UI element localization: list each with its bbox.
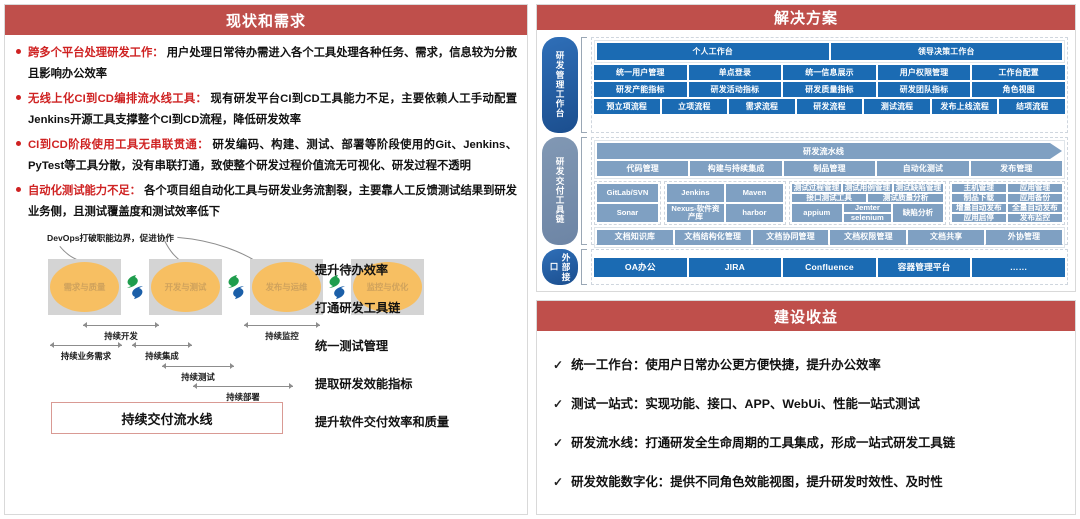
list-item: ✓ 测试一站式：实现功能、接口、APP、WebUi、性能一站式测试 xyxy=(553,394,1059,412)
list-item[interactable]: 文档协同管理 xyxy=(753,230,829,245)
list-item[interactable]: 立项流程 xyxy=(662,99,728,114)
check-icon: ✓ xyxy=(553,358,563,372)
devops-stage: 需求与质量 xyxy=(48,259,121,315)
current-state-title: 现状和需求 xyxy=(5,5,527,35)
bullet-lead: 跨多个平台处理研发工作： xyxy=(28,47,164,59)
tool-group-code: GitLab/SVN Sonar xyxy=(594,181,661,225)
benefit-text: 测试一站式：实现功能、接口、APP、WebUi、性能一站式测试 xyxy=(571,394,920,412)
benefits-list: ✓ 统一工作台：使用户日常办公更方便快捷，提升办公效率 ✓ 测试一站式：实现功能… xyxy=(537,331,1075,514)
workbench-top-wrap: 个人工作台 领导决策工作台 xyxy=(594,40,1065,63)
benefit-text: 统一工作台：使用户日常办公更方便快捷，提升办公效率 xyxy=(571,355,881,373)
list-item[interactable]: 应用备份 xyxy=(1008,194,1062,202)
list-item[interactable]: 增量自动发布 xyxy=(952,204,1006,212)
bracket-column xyxy=(581,35,588,285)
continuous-delivery-pipeline-box: 持续交付流水线 xyxy=(51,402,283,434)
list-item[interactable]: 研发流程 xyxy=(797,99,863,114)
solution-architecture-diagram: 研发管理工作台 研发交付工具链 外部接口 个人工作台 xyxy=(537,30,1075,291)
list-item[interactable]: 测试用例管理 xyxy=(843,184,892,192)
devops-span-label: 持续开发 xyxy=(83,330,159,342)
list-item[interactable]: Maven xyxy=(726,184,783,202)
list-item[interactable]: 研发活动指标 xyxy=(689,82,782,97)
outcome-item: 提升软件交付效率和质量 xyxy=(315,402,449,440)
table-row: 统一用户管理 单点登录 统一信息展示 用户权限管理 工作台配置 xyxy=(594,65,1065,80)
devops-span: 持续集成 xyxy=(132,342,192,362)
table-row: 代码管理 构建与持续集成 制品管理 自动化测试 发布管理 xyxy=(597,161,1062,176)
devops-span: 持续部署 xyxy=(193,383,293,403)
list-item[interactable]: 统一信息展示 xyxy=(783,65,876,80)
list-item[interactable]: 发布上线流程 xyxy=(932,99,998,114)
list-item[interactable]: …… xyxy=(972,258,1065,277)
devops-span-label: 持续监控 xyxy=(244,330,320,342)
tool-group-release: 主机管理 应用管理 制品下载 应用备份 增量自动发布 全量自动发布 xyxy=(949,181,1065,225)
benefit-body: 提供不同角色效能视图，提升研发时效性、及时性 xyxy=(670,475,943,489)
outcome-item: 打通研发工具链 xyxy=(315,288,449,326)
docs-row-wrap: 文档知识库 文档结构化管理 文档协同管理 文档权限管理 文档共享 外协管理 xyxy=(594,227,1065,248)
list-item[interactable]: 单点登录 xyxy=(689,65,782,80)
list-item[interactable]: 缺陷分析 xyxy=(893,204,943,222)
benefit-body: 打通研发全生命周期的工具集成，形成一站式研发工具链 xyxy=(645,436,955,450)
right-column: 解决方案 研发管理工作台 研发交付工具链 外部接口 xyxy=(536,4,1076,515)
pipeline-wrap: 研发流水线 代码管理 构建与持续集成 制品管理 自动化测试 发布管理 xyxy=(594,140,1065,179)
list-item[interactable]: Sonar xyxy=(597,204,658,222)
devops-span: 持续测试 xyxy=(162,363,234,383)
devops-sync-icon xyxy=(121,259,149,315)
list-item[interactable]: 外协管理 xyxy=(986,230,1062,245)
list-item: CI到CD阶段使用工具无串联贯通： 研发编码、构建、测试、部署等阶段使用的Git… xyxy=(15,135,517,176)
list-item[interactable]: 用户权限管理 xyxy=(878,65,971,80)
list-item[interactable]: 预立项流程 xyxy=(594,99,660,114)
list-item[interactable]: 测试质量分析 xyxy=(868,194,942,202)
benefit-text: 研发效能数字化：提供不同角色效能视图，提升研发时效性、及时性 xyxy=(571,472,943,490)
list-item[interactable]: 文档权限管理 xyxy=(830,230,906,245)
benefit-lead: 研发效能数字化： xyxy=(571,475,670,489)
list-item[interactable]: 工作台配置 xyxy=(972,65,1065,80)
devops-span: 持续监控 xyxy=(244,322,320,342)
table-row: 文档知识库 文档结构化管理 文档协同管理 文档权限管理 文档共享 外协管理 xyxy=(597,230,1062,245)
current-state-body: 跨多个平台处理研发工作： 用户处理日常待办需进入各个工具处理各种任务、需求，信息… xyxy=(5,35,527,514)
list-item[interactable]: 统一用户管理 xyxy=(594,65,687,80)
list-item[interactable]: 构建与持续集成 xyxy=(690,161,781,176)
devops-span-label: 持续集成 xyxy=(132,350,192,362)
solution-title: 解决方案 xyxy=(537,5,1075,30)
bracket xyxy=(581,249,587,285)
list-item[interactable]: 研发产能指标 xyxy=(594,82,687,97)
devops-span: 持续业务需求 xyxy=(50,342,122,362)
tool-group-build: Jenkins Maven Nexus-软件资产库 harbor xyxy=(664,181,786,225)
benefit-body: 实现功能、接口、APP、WebUi、性能一站式测试 xyxy=(645,397,919,411)
bracket xyxy=(581,137,587,245)
devops-diagram: DevOps打破职能边界，促进协作 需求与质量 xyxy=(15,232,517,437)
current-state-card: 现状和需求 跨多个平台处理研发工作： 用户处理日常待办需进入各个工具处理各种任务… xyxy=(4,4,528,515)
list-item[interactable]: 测试过程管理 xyxy=(792,184,841,192)
list-item: 自动化测试能力不足： 各个项目组自动化工具与研发业务流割裂，主要靠人工反馈测试结… xyxy=(15,181,517,222)
list-item[interactable]: GitLab/SVN xyxy=(597,184,658,202)
check-icon: ✓ xyxy=(553,475,563,489)
outcome-list: 提升待办效率 打通研发工具链 统一测试管理 提取研发效能指标 提升软件交付效率和… xyxy=(315,250,449,440)
benefits-card: 建设收益 ✓ 统一工作台：使用户日常办公更方便快捷，提升办公效率 ✓ 测试一站式… xyxy=(536,300,1076,515)
list-item[interactable]: 应用管理 xyxy=(1008,184,1062,192)
table-row: OA办公 JIRA Confluence 容器管理平台 …… xyxy=(594,258,1065,277)
pipeline-arrow: 研发流水线 xyxy=(597,143,1050,159)
devops-span: 持续开发 xyxy=(83,322,159,342)
benefit-lead: 研发流水线： xyxy=(571,436,645,450)
pipeline-label: 持续交付流水线 xyxy=(121,409,212,428)
layer-pill-toolchain: 研发交付工具链 xyxy=(542,137,578,245)
group-workbench: 个人工作台 领导决策工作台 统一用户管理 单点登录 统一信息展示 用户权限管理 … xyxy=(591,37,1068,133)
list-item[interactable]: Jenkins xyxy=(667,184,724,202)
list-item[interactable]: Jemter xyxy=(844,204,892,212)
list-item[interactable]: 接口测试工具 xyxy=(792,194,866,202)
devops-span-label: 持续测试 xyxy=(162,371,234,383)
benefit-body: 使用户日常办公更方便快捷，提升办公效率 xyxy=(645,358,880,372)
list-item[interactable]: 研发质量指标 xyxy=(783,82,876,97)
table-row: 预立项流程 立项流程 需求流程 研发流程 测试流程 发布上线流程 结项流程 xyxy=(594,99,1065,114)
list-item[interactable]: harbor xyxy=(726,204,783,222)
devops-stage-label: 监控与优化 xyxy=(367,281,409,293)
bullet-lead: 无线上化CI到CD编排流水线工具： xyxy=(28,93,207,105)
bullet-lead: CI到CD阶段使用工具无串联贯通： xyxy=(28,139,209,151)
check-icon: ✓ xyxy=(553,436,563,450)
list-item[interactable]: 结项流程 xyxy=(999,99,1065,114)
layer-pill-workbench: 研发管理工作台 xyxy=(542,37,578,133)
check-icon: ✓ xyxy=(553,397,563,411)
group-toolchain: 研发流水线 代码管理 构建与持续集成 制品管理 自动化测试 发布管理 xyxy=(591,137,1068,245)
slide-root: 现状和需求 跨多个平台处理研发工作： 用户处理日常待办需进入各个工具处理各种任务… xyxy=(0,0,1080,519)
tool-group-row: GitLab/SVN Sonar Jenkins Maven Nexus-软件资… xyxy=(594,181,1065,225)
list-item[interactable]: Confluence xyxy=(783,258,876,277)
list-item[interactable]: 主机管理 xyxy=(952,184,1006,192)
devops-stage-label: 需求与质量 xyxy=(64,281,106,293)
list-item[interactable]: 容器管理平台 xyxy=(878,258,971,277)
devops-stage-label: 发布与运维 xyxy=(266,281,308,293)
list-item[interactable]: Nexus-软件资产库 xyxy=(667,204,724,222)
list-item[interactable]: appium xyxy=(792,204,842,222)
list-item[interactable]: 角色视图 xyxy=(972,82,1065,97)
list-item: ✓ 研发流水线：打通研发全生命周期的工具集成，形成一站式研发工具链 xyxy=(553,433,1059,451)
list-item: ✓ 研发效能数字化：提供不同角色效能视图，提升研发时效性、及时性 xyxy=(553,472,1059,490)
benefits-title: 建设收益 xyxy=(537,301,1075,331)
benefit-text: 研发流水线：打通研发全生命周期的工具集成，形成一站式研发工具链 xyxy=(571,433,955,451)
list-item[interactable]: selenium xyxy=(844,214,892,222)
benefit-lead: 统一工作台： xyxy=(571,358,645,372)
list-item[interactable]: 制品下载 xyxy=(952,194,1006,202)
layer-groups: 个人工作台 领导决策工作台 统一用户管理 单点登录 统一信息展示 用户权限管理 … xyxy=(591,35,1068,285)
group-external-interfaces: OA办公 JIRA Confluence 容器管理平台 …… xyxy=(591,249,1068,285)
devops-stage-label: 开发与测试 xyxy=(165,281,207,293)
devops-sync-icon xyxy=(222,259,250,315)
list-item[interactable]: 自动化测试 xyxy=(877,161,968,176)
devops-stage: 发布与运维 xyxy=(250,259,323,315)
list-item[interactable]: 需求流程 xyxy=(729,99,795,114)
list-item[interactable]: OA办公 xyxy=(594,258,687,277)
list-item[interactable]: 研发团队指标 xyxy=(878,82,971,97)
list-item[interactable]: 发布管理 xyxy=(971,161,1062,176)
list-item[interactable]: 制品管理 xyxy=(784,161,875,176)
layer-label-column: 研发管理工作台 研发交付工具链 外部接口 xyxy=(542,35,578,285)
table-row: 研发产能指标 研发活动指标 研发质量指标 研发团队指标 角色视图 xyxy=(594,82,1065,97)
solution-card: 解决方案 研发管理工作台 研发交付工具链 外部接口 xyxy=(536,4,1076,292)
list-item[interactable]: 测试缺陷管理 xyxy=(894,184,943,192)
table-row: 个人工作台 领导决策工作台 xyxy=(597,43,1062,60)
list-item[interactable]: 文档知识库 xyxy=(597,230,673,245)
list-item[interactable]: 全量自动发布 xyxy=(1008,204,1062,212)
bullet-lead: 自动化测试能力不足： xyxy=(28,185,141,197)
list-item: ✓ 统一工作台：使用户日常办公更方便快捷，提升办公效率 xyxy=(553,355,1059,373)
list-item[interactable]: 应用启停 xyxy=(952,214,1006,222)
tool-group-test: 测试过程管理 测试用例管理 测试缺陷管理 接口测试工具 测试质量分析 appiu… xyxy=(789,181,946,225)
list-item[interactable]: JIRA xyxy=(689,258,782,277)
list-item[interactable]: 发布监控 xyxy=(1008,214,1062,222)
list-item: 跨多个平台处理研发工作： 用户处理日常待办需进入各个工具处理各种任务、需求，信息… xyxy=(15,43,517,84)
list-item[interactable]: 测试流程 xyxy=(864,99,930,114)
list-item[interactable]: 文档共享 xyxy=(908,230,984,245)
cell-personal-workbench[interactable]: 个人工作台 xyxy=(597,43,829,60)
list-item: 无线上化CI到CD编排流水线工具： 现有研发平台CI到CD工具能力不足，主要依赖… xyxy=(15,89,517,130)
benefit-lead: 测试一站式： xyxy=(571,397,645,411)
requirement-bullet-list: 跨多个平台处理研发工作： 用户处理日常待办需进入各个工具处理各种任务、需求，信息… xyxy=(15,43,517,222)
devops-stage: 开发与测试 xyxy=(149,259,222,315)
outcome-item: 统一测试管理 xyxy=(315,326,449,364)
bracket xyxy=(581,37,587,133)
layer-pill-external: 外部接口 xyxy=(542,249,578,285)
list-item[interactable]: 代码管理 xyxy=(597,161,688,176)
devops-note: DevOps打破职能边界，促进协作 xyxy=(47,232,174,244)
outcome-item: 提取研发效能指标 xyxy=(315,364,449,402)
list-item[interactable]: 文档结构化管理 xyxy=(675,230,751,245)
cell-leader-workbench[interactable]: 领导决策工作台 xyxy=(831,43,1063,60)
devops-span-label: 持续业务需求 xyxy=(50,350,122,362)
